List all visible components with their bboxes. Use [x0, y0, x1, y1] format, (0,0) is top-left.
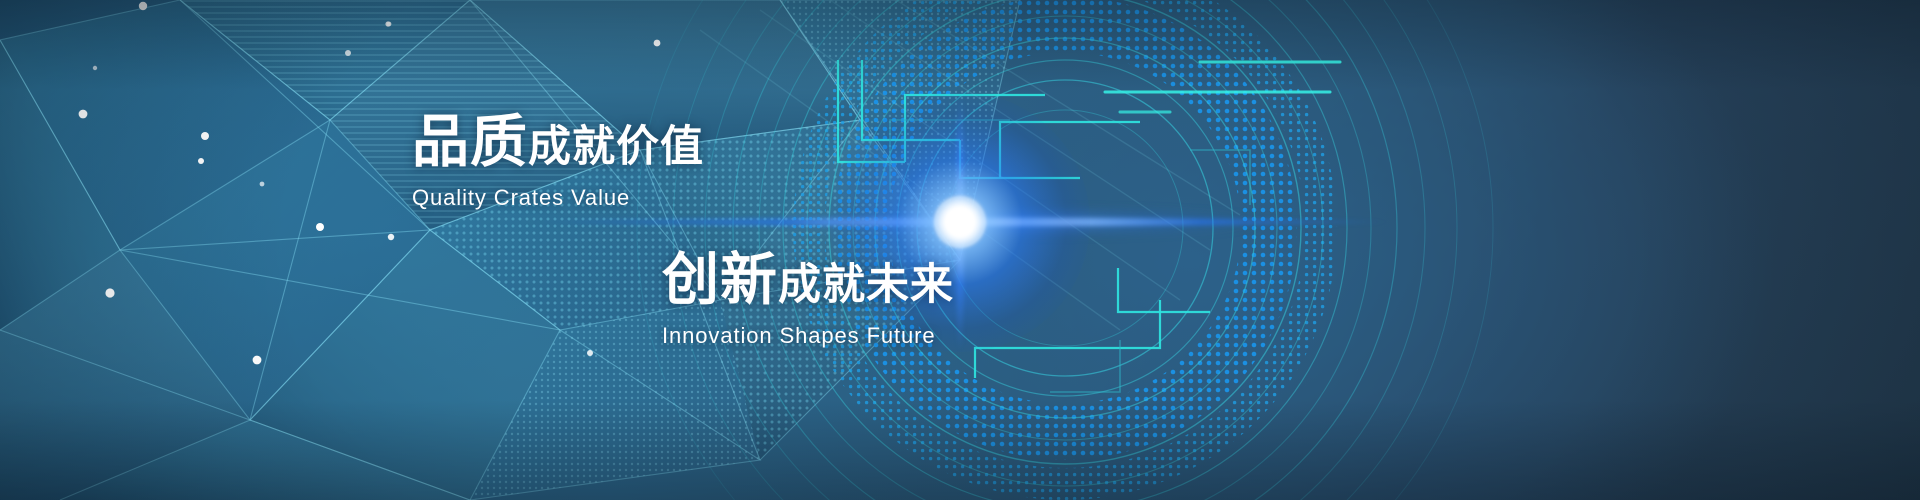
halftone-ring-band	[760, 0, 1400, 500]
hero-banner: 品质成就价值 Quality Crates Value 创新成就未来 Innov…	[0, 0, 1920, 500]
tech-ring-graphic	[0, 0, 1920, 500]
slogan-innovation-chinese: 创新成就未来	[662, 252, 954, 309]
slogan-innovation-english: Innovation Shapes Future	[662, 323, 954, 349]
slogan-innovation-chinese-lead: 创新	[662, 248, 778, 312]
slogan-quality-chinese: 品质成就价值	[412, 114, 704, 171]
slogan-quality-chinese-lead: 品质	[412, 110, 528, 174]
slogan-quality-chinese-tail: 成就价值	[528, 123, 704, 171]
slogan-innovation-chinese-tail: 成就未来	[778, 261, 954, 309]
slogan-quality-english: Quality Crates Value	[412, 185, 704, 211]
slogan-innovation: 创新成就未来 Innovation Shapes Future	[662, 252, 954, 349]
slogan-quality: 品质成就价值 Quality Crates Value	[412, 114, 704, 211]
